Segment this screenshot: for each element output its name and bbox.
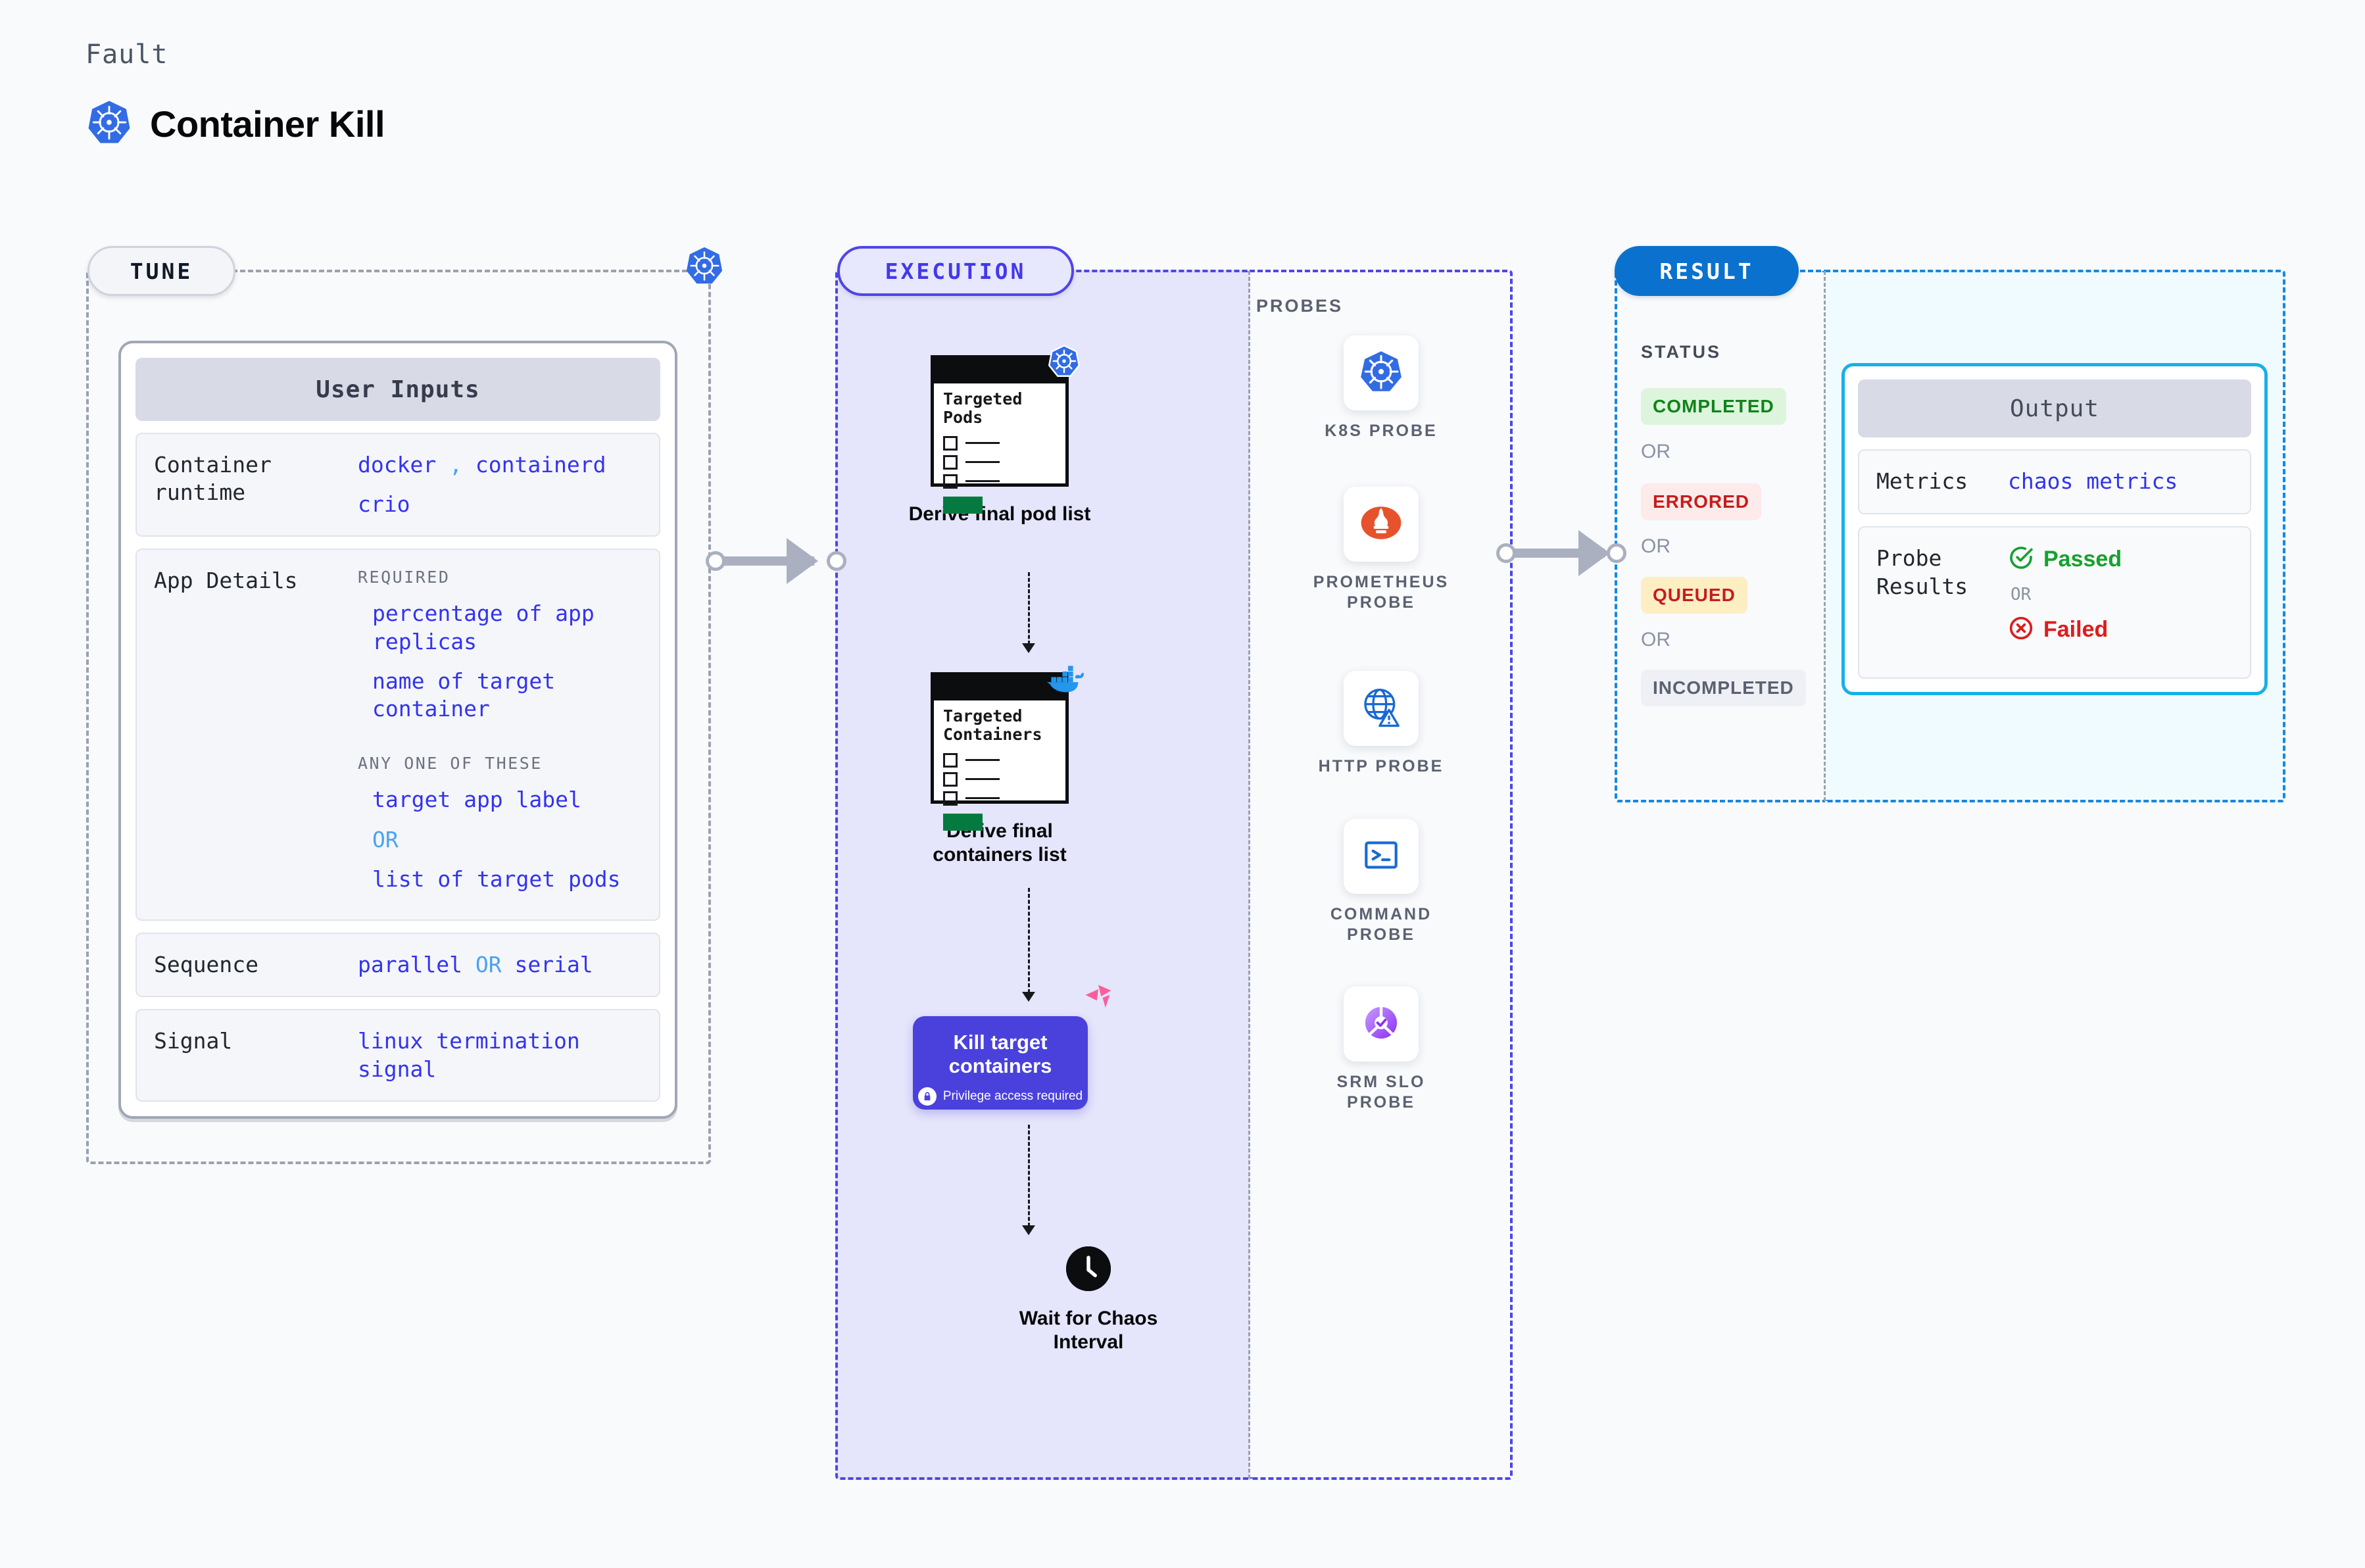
value-percentage-replicas: percentage of app replicas [358, 600, 621, 655]
subheading-any-one: ANY ONE OF THESE [358, 753, 621, 774]
probe-tile [1344, 335, 1419, 410]
card-title-line-2: Containers [943, 725, 1042, 744]
row-value: Passed OR Failed [2008, 545, 2122, 645]
connector-arrowhead [787, 538, 818, 584]
probe-label-line-2: PROBE [1347, 925, 1415, 944]
result-divider [1824, 271, 1826, 801]
user-inputs-title: User Inputs [135, 358, 660, 421]
value-line-1: name of target [372, 668, 555, 694]
command-terminal-icon [1359, 833, 1403, 880]
value-line-1: percentage of app [372, 600, 595, 626]
status-title: STATUS [1641, 342, 1721, 362]
label-line-2: Interval [1054, 1331, 1124, 1353]
row-key: Probe Results [1876, 545, 2008, 645]
row-key: Metrics [1876, 468, 2008, 496]
failed-label: Failed [2043, 617, 2108, 643]
row-value: parallel OR serial [358, 951, 593, 979]
flow-arrow-head-1 [1022, 643, 1035, 653]
docker-icon [1044, 664, 1084, 697]
line-dash [965, 480, 1000, 482]
probe-tile [1344, 487, 1419, 562]
card-title-line-1: Targeted [943, 389, 1022, 408]
probe-label: PROMETHEUS PROBE [1282, 572, 1480, 614]
value-parallel: parallel [358, 952, 462, 977]
probe-label: HTTP PROBE [1282, 756, 1480, 777]
checkbox-icon [943, 436, 958, 451]
node-label: Derive final pod list [901, 502, 1098, 526]
probe-label: SRM SLO PROBE [1282, 1072, 1480, 1114]
card-list [934, 745, 1065, 806]
green-bar [943, 497, 983, 514]
flow-arrow-3 [1028, 1125, 1030, 1227]
connector-dot [1607, 543, 1626, 563]
row-signal: Signal linux termination signal [135, 1009, 660, 1101]
checkbox-icon [943, 753, 958, 768]
value-docker: docker [358, 452, 436, 478]
http-globe-icon [1358, 684, 1404, 733]
probe-label-line-2: PROBE [1347, 593, 1415, 612]
probe-command[interactable]: COMMAND PROBE [1282, 819, 1480, 946]
value-crio: crio [358, 491, 606, 518]
list-item [943, 474, 1065, 489]
page-title: Container Kill [150, 103, 385, 145]
card-title-line-2: Pods [943, 408, 983, 427]
key-line-1: Container [154, 452, 272, 478]
value-target-container: name of target container [358, 668, 621, 723]
kill-title: Kill target containers [913, 1031, 1088, 1078]
probe-label-line-1: PROMETHEUS [1313, 573, 1449, 591]
check-circle-icon [2008, 545, 2034, 574]
kill-title-line-2: containers [949, 1054, 1052, 1077]
srm-slo-icon [1358, 1000, 1404, 1049]
node-label: Derive final containers list [901, 820, 1098, 867]
privilege-label: Privilege access required [943, 1089, 1083, 1104]
value-comma: , [449, 452, 462, 478]
probe-k8s[interactable]: K8S PROBE [1282, 335, 1480, 441]
or-separator: OR [1641, 535, 1670, 558]
output-title: Output [1858, 380, 2251, 437]
list-item [943, 791, 1065, 806]
card-topbar [934, 358, 1065, 383]
kubernetes-icon [1047, 344, 1081, 381]
probe-label-line-1: SRM SLO [1337, 1073, 1426, 1091]
row-sequence: Sequence parallel OR serial [135, 933, 660, 997]
list-item [943, 772, 1065, 787]
status-badge-completed: COMPLETED [1641, 388, 1786, 425]
value-containerd: containerd [475, 452, 606, 478]
node-derive-pod-list: Targeted Pods Derive final pod list [901, 355, 1098, 526]
value-line-1: linux termination [358, 1028, 580, 1054]
probe-tile [1344, 987, 1419, 1062]
row-key: App Details [154, 567, 358, 893]
probe-prometheus[interactable]: PROMETHEUS PROBE [1282, 487, 1480, 614]
row-container-runtime: Container runtime docker , containerd cr… [135, 433, 660, 537]
line-dash [965, 759, 1000, 761]
key-line-2: Results [1876, 574, 1968, 599]
value-list-target-pods: list of target pods [358, 866, 621, 893]
list-item [943, 436, 1065, 451]
probe-label: K8S PROBE [1282, 421, 1480, 441]
key-line-2: runtime [154, 479, 245, 505]
row-key: Signal [154, 1027, 358, 1083]
node-derive-containers-list: Targeted Containers Derive final contain [901, 672, 1098, 867]
probe-tile [1344, 819, 1419, 894]
kill-target-containers-node[interactable]: Kill target containers Privilege access … [913, 1016, 1088, 1110]
targeted-containers-card: Targeted Containers [931, 672, 1069, 804]
probe-label-line-2: PROBE [1347, 1093, 1415, 1112]
row-key: Sequence [154, 951, 358, 979]
output-card: Output Metrics chaos metrics Probe Resul… [1841, 363, 2268, 695]
probe-srm-slo[interactable]: SRM SLO PROBE [1282, 987, 1480, 1114]
fault-kicker: Fault [85, 39, 385, 70]
flow-arrow-head-3 [1022, 1225, 1035, 1235]
probe-tile [1344, 671, 1419, 746]
lock-icon [918, 1087, 937, 1106]
row-value: REQUIRED percentage of app replicas name… [358, 567, 621, 893]
value-line-2: container [372, 696, 490, 722]
row-probe-results: Probe Results Passed OR [1858, 526, 2251, 679]
row-app-details: App Details REQUIRED percentage of app r… [135, 549, 660, 921]
green-bar [943, 814, 983, 831]
line-dash [965, 797, 1000, 799]
card-title-line-1: Targeted [943, 706, 1022, 725]
kubernetes-icon [1356, 347, 1406, 400]
subheading-required: REQUIRED [358, 567, 621, 588]
key-line-1: Probe [1876, 545, 1941, 571]
probes-title: PROBES [1256, 296, 1343, 316]
status-badge-incompleted: INCOMPLETED [1641, 670, 1806, 706]
list-item [943, 455, 1065, 470]
checkbox-icon [943, 791, 958, 806]
row-value: linux termination signal [358, 1027, 580, 1083]
execution-pill[interactable]: EXECUTION [837, 246, 1074, 296]
privilege-note: Privilege access required [913, 1087, 1088, 1106]
kubernetes-icon [684, 245, 725, 289]
row-key: Container runtime [154, 451, 358, 518]
kubernetes-icon [85, 99, 133, 149]
connector-dot [827, 551, 846, 571]
clock-icon [1066, 1246, 1111, 1291]
status-badge-errored: ERRORED [1641, 483, 1761, 520]
card-list [934, 428, 1065, 489]
node-wait-chaos-interval: Wait for Chaos Interval [970, 1246, 1207, 1354]
line-dash [965, 778, 1000, 780]
probe-http[interactable]: HTTP PROBE [1282, 671, 1480, 777]
value-line-2: signal [358, 1056, 436, 1082]
node-label: Wait for Chaos Interval [970, 1307, 1207, 1354]
targeted-pods-card: Targeted Pods [931, 355, 1069, 487]
probe-result-passed: Passed [2008, 545, 2122, 574]
value-or: OR [475, 952, 502, 977]
or-separator: OR [1641, 629, 1670, 651]
label-line-1: Wait for Chaos [1019, 1308, 1158, 1329]
probe-label-line-1: COMMAND [1330, 905, 1432, 923]
or-separator: OR [2011, 585, 2122, 604]
card-title: Targeted Containers [934, 700, 1065, 745]
litmus-chaos-icon [1081, 981, 1115, 1018]
value-or: OR [358, 826, 621, 854]
line-dash [965, 442, 1000, 444]
page-header: Fault Container Kill [85, 39, 385, 149]
line-dash [965, 461, 1000, 463]
probes-divider [1248, 271, 1250, 1479]
list-item [943, 753, 1065, 768]
row-value: chaos metrics [2008, 468, 2178, 496]
probe-result-failed: Failed [2008, 615, 2122, 645]
passed-label: Passed [2043, 547, 2122, 572]
probe-label: COMMAND PROBE [1282, 904, 1480, 946]
connector-arrowhead [1578, 530, 1610, 576]
prometheus-icon [1357, 499, 1405, 550]
user-inputs-card: User Inputs Container runtime docker , c… [118, 341, 677, 1119]
connector-dot [706, 551, 725, 571]
card-title: Targeted Pods [934, 383, 1065, 428]
flow-arrow-head-2 [1022, 992, 1035, 1002]
row-value: docker , containerd crio [358, 451, 606, 518]
title-row: Container Kill [85, 99, 385, 149]
flow-arrow-2 [1028, 888, 1030, 993]
tune-pill[interactable]: TUNE [87, 246, 235, 296]
checkbox-icon [943, 772, 958, 787]
result-pill[interactable]: RESULT [1615, 246, 1799, 296]
x-circle-icon [2008, 615, 2034, 645]
checkbox-icon [943, 455, 958, 470]
row-metrics: Metrics chaos metrics [1858, 449, 2251, 514]
connector-dot [1496, 543, 1516, 563]
kill-title-line-1: Kill target [954, 1031, 1048, 1054]
value-serial: serial [514, 952, 593, 977]
status-badge-queued: QUEUED [1641, 577, 1747, 614]
checkbox-icon [943, 474, 958, 489]
or-separator: OR [1641, 441, 1670, 463]
value-line-2: replicas [372, 629, 477, 654]
flow-arrow-1 [1028, 572, 1030, 645]
value-target-app-label: target app label [358, 786, 621, 814]
